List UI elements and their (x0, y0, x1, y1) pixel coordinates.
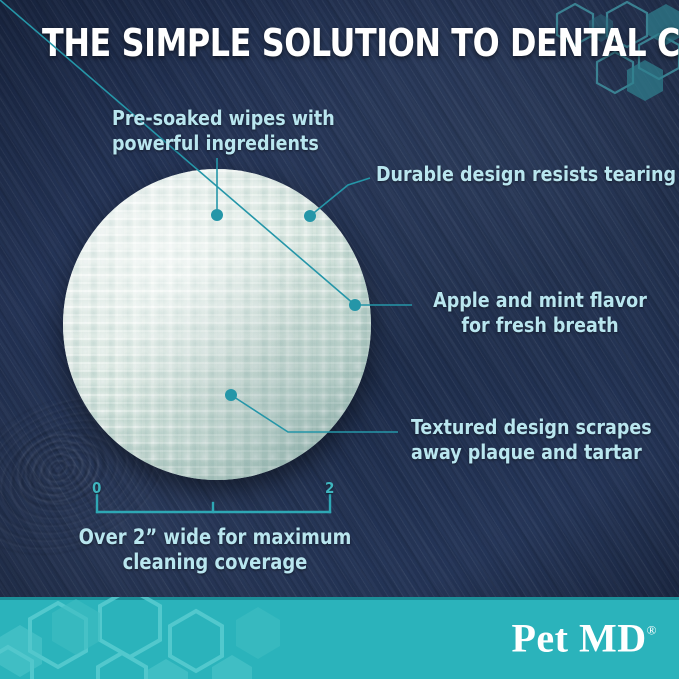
callout-flavor-line2: for fresh breath (426, 313, 654, 338)
ruler-caption-line1: Over 2” wide for maximum (11, 525, 420, 550)
callout-durable: Durable design resists tearing (376, 162, 676, 187)
callout-pre-soaked: Pre-soaked wipes with powerful ingredien… (112, 106, 335, 156)
page-title: THE SIMPLE SOLUTION TO DENTAL CARE (42, 23, 600, 63)
footer-hexagon-pattern-icon (0, 597, 420, 679)
callout-flavor: Apple and mint flavor for fresh breath (426, 288, 654, 338)
footer-bar: Pet MD® (0, 597, 679, 679)
callout-textured-line1: Textured design scrapes (411, 415, 639, 440)
product-infographic: THE SIMPLE SOLUTION TO DENTAL CARE Pre-s… (0, 0, 679, 679)
dental-wipe-disc (63, 169, 371, 480)
ruler-start-label: 0 (92, 479, 101, 497)
brand-logo: Pet MD® (511, 615, 657, 662)
wipe-shading (63, 169, 371, 480)
ruler-caption: Over 2” wide for maximum cleaning covera… (11, 525, 420, 575)
callout-textured-line2: away plaque and tartar (411, 440, 639, 465)
ruler-end-label: 2 (325, 479, 334, 497)
callout-pre-soaked-line2: powerful ingredients (112, 131, 335, 156)
callout-pre-soaked-line1: Pre-soaked wipes with (112, 106, 335, 131)
ruler-caption-line2: cleaning coverage (11, 550, 420, 575)
callout-flavor-line1: Apple and mint flavor (426, 288, 654, 313)
callout-textured: Textured design scrapes away plaque and … (411, 415, 639, 465)
callout-durable-line1: Durable design resists tearing (376, 162, 676, 187)
brand-name: Pet MD (511, 616, 646, 661)
registered-trademark-icon: ® (647, 623, 657, 638)
